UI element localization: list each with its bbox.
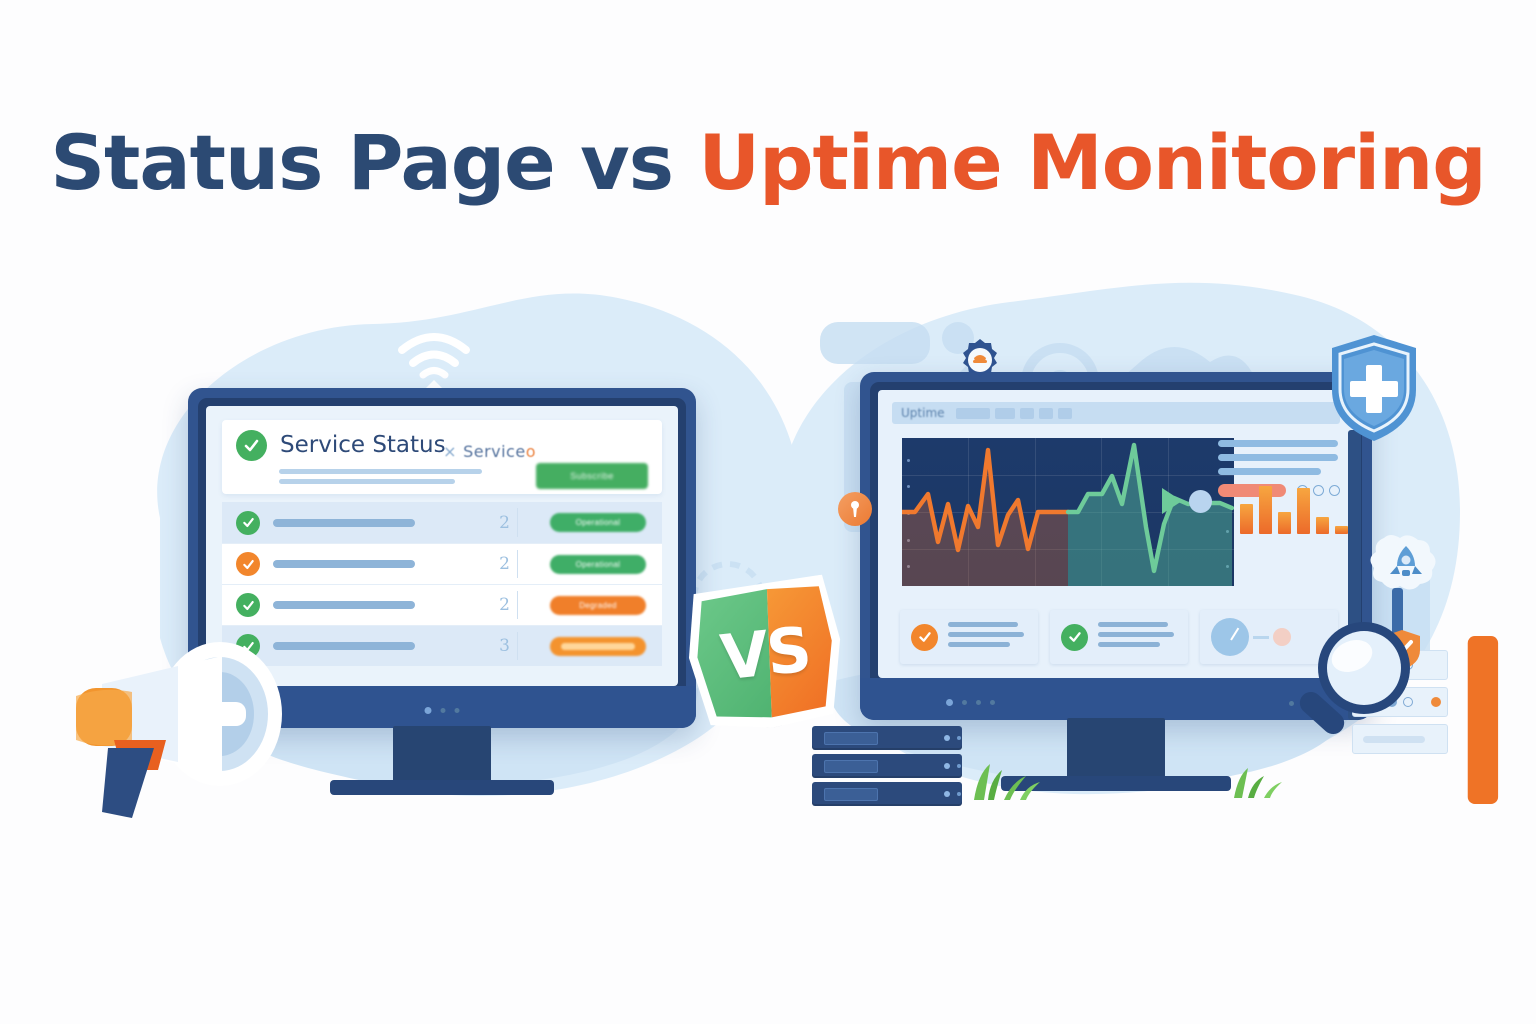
chart-endpoint-dot: [1189, 490, 1212, 513]
led-dot: [990, 700, 995, 705]
header-subtext-lines: [279, 469, 504, 489]
skeleton-line: [948, 642, 1010, 647]
play-triangle-icon: [1162, 488, 1182, 514]
clipboard-icon: [1438, 636, 1536, 804]
wifi-icon: [392, 330, 476, 392]
gauge-icon: [1211, 618, 1249, 656]
brand-name: Service: [463, 442, 526, 461]
magnifier-icon: [1288, 616, 1418, 756]
bar: [1335, 526, 1348, 534]
skeleton-line: [279, 479, 455, 484]
led-dot: [962, 700, 967, 705]
led-dot: [455, 708, 460, 713]
skeleton-line: [948, 622, 1018, 627]
row-count: 2: [499, 554, 510, 574]
skeleton-line: [1218, 440, 1338, 447]
skeleton-line: [1098, 632, 1174, 637]
monitor-stand-neck: [1067, 718, 1165, 780]
stat-card[interactable]: [1050, 610, 1188, 664]
status-page-header: Service Status ×Serviceo Subscribe: [222, 420, 662, 494]
row-count: 2: [499, 595, 510, 615]
uptime-dashboard-screen: Uptime: [878, 390, 1354, 678]
monitor-indicator-dots: [425, 707, 460, 714]
stat-card[interactable]: [900, 610, 1038, 664]
row-label-bar: [273, 601, 415, 609]
vs-badge: VS: [677, 570, 854, 736]
bar: [1278, 512, 1291, 534]
topbar-segment: [1058, 408, 1072, 419]
check-circle-icon: [911, 624, 938, 651]
brand-x-glyph: ×: [443, 442, 457, 461]
stat-card-lines: [948, 622, 1027, 652]
megaphone-icon: [62, 636, 312, 826]
page-title: Service Status: [280, 432, 446, 458]
stat-card-lines: [1098, 622, 1177, 652]
skeleton-line: [948, 632, 1024, 637]
response-time-chart: [902, 438, 1234, 586]
dashboard-topbar: Uptime: [892, 402, 1340, 424]
row-count: 3: [499, 636, 510, 656]
lock-icon[interactable]: [838, 492, 872, 526]
bar: [1240, 504, 1253, 534]
row-label-bar: [273, 519, 415, 527]
skeleton-line: [1098, 622, 1168, 627]
led-dot: [976, 700, 981, 705]
row-divider: [517, 632, 518, 660]
check-circle-icon: [236, 511, 260, 535]
topbar-segment: [1039, 408, 1053, 419]
dashboard-stat-cards: [900, 610, 1338, 664]
row-divider: [517, 508, 518, 537]
server-unit: [812, 726, 962, 750]
subscribe-button[interactable]: Subscribe: [536, 463, 648, 489]
title-part-uptime-monitoring: Uptime Monitoring: [698, 118, 1485, 207]
skeleton-line: [1218, 468, 1321, 475]
server-unit: [812, 754, 962, 778]
gear-timer-icon: [958, 338, 1002, 382]
status-badge: Degraded: [550, 596, 646, 615]
illustration-canvas: Service Status ×Serviceo Subscribe 2: [0, 0, 1536, 1024]
monitor-stand-neck: [393, 726, 491, 784]
row-divider: [517, 550, 518, 578]
grass-decor: [966, 756, 1044, 800]
server-stack-icon: [812, 726, 962, 808]
server-unit: [812, 782, 962, 806]
table-row[interactable]: 2 Operational: [222, 543, 662, 584]
table-row[interactable]: 2 Degraded: [222, 584, 662, 625]
check-circle-icon: [236, 593, 260, 617]
monitor-stand-base: [330, 780, 554, 795]
topbar-segment: [995, 408, 1015, 419]
vs-label: VS: [677, 570, 854, 736]
monitor-indicator-dots: [946, 699, 995, 706]
check-circle-icon: [236, 430, 267, 461]
rocket-icon: [1370, 530, 1442, 592]
status-badge: [550, 637, 646, 656]
skeleton-line: [1218, 454, 1338, 461]
led-dot: [425, 707, 432, 714]
uptime-bar-chart: [1240, 482, 1348, 534]
skeleton-line: [279, 469, 482, 474]
topbar-segment: [1020, 408, 1034, 419]
check-circle-icon: [1061, 624, 1088, 651]
title-part-status-page: Status Page vs: [50, 118, 698, 207]
brand-suffix: o: [526, 442, 536, 461]
status-badge: Operational: [550, 555, 646, 574]
status-badge: Operational: [550, 513, 646, 532]
connector-line: [1253, 636, 1269, 639]
table-row[interactable]: 2 Operational: [222, 502, 662, 543]
bar: [1259, 486, 1272, 534]
bar: [1297, 488, 1310, 534]
page-title-heading: Status Page vs Uptime Monitoring: [0, 118, 1536, 207]
brand-logo: ×Serviceo: [443, 442, 536, 461]
row-divider: [517, 591, 518, 619]
dashboard-title: Uptime: [901, 406, 945, 420]
shield-health-icon: [1328, 332, 1420, 444]
topbar-segment: [956, 408, 990, 419]
bar: [1316, 517, 1329, 534]
led-dot: [946, 699, 953, 706]
led-dot: [441, 708, 446, 713]
row-label-bar: [273, 560, 415, 568]
row-count: 2: [499, 513, 510, 533]
skeleton-line: [1098, 642, 1160, 647]
grass-decor: [1228, 762, 1288, 798]
chart-series-svg: [902, 438, 1234, 586]
check-circle-icon: [236, 552, 260, 576]
